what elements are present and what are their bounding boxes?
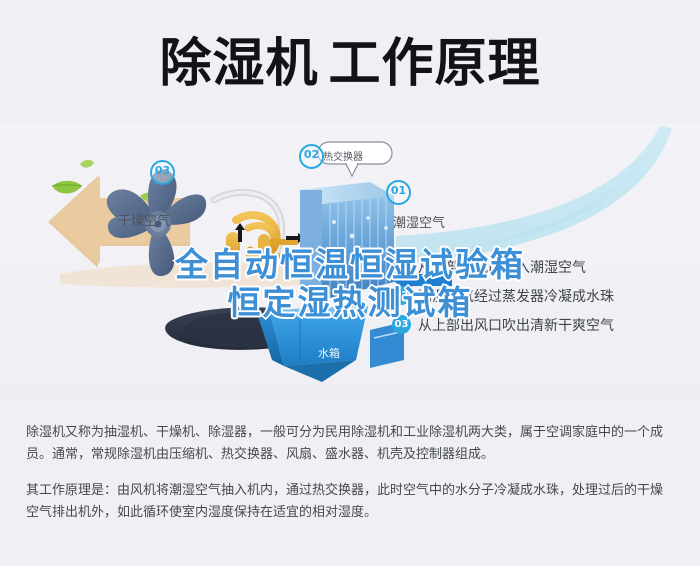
page-title-part-2: 工作原理 (329, 34, 541, 94)
title-band: 除湿机工作原理 (0, 0, 700, 132)
diagram-badge-03: 03 (150, 160, 175, 185)
legend-item: 02 潮湿空气经过蒸发器冷凝成水珠 (392, 281, 692, 310)
compressor-coils (214, 192, 305, 267)
legend-item: 01 从下部进风口吸入潮湿空气 (392, 252, 692, 281)
water-tank (258, 306, 368, 382)
body-paragraph-1: 除湿机又称为抽湿机、干燥机、除湿器，一般可分为民用除湿机和工业除湿机两大类，属于… (26, 422, 674, 466)
body-paragraph-2: 其工作原理是：由风机将潮湿空气抽入机内，通过热交换器，此时空气中的水分子冷凝成水… (26, 480, 674, 524)
diagram-legend: 01 从下部进风口吸入潮湿空气 02 潮湿空气经过蒸发器冷凝成水珠 03 从上部… (392, 252, 692, 339)
dehumidifier-diagram: 03 02 01 干燥空气 潮湿空气 热交换器 水箱 01 从下部进风口吸入潮湿… (0, 124, 700, 406)
diagram-badge-01: 01 (386, 180, 411, 205)
label-dry-air: 干燥空气 (118, 210, 170, 229)
legend-text-03: 从上部出风口吹出清新干爽空气 (418, 315, 614, 335)
heat-exchanger-block (300, 182, 394, 300)
legend-badge-02: 02 (392, 286, 411, 305)
humid-air-swoosh (396, 126, 672, 264)
diagram-badge-02: 02 (299, 144, 324, 169)
legend-item: 03 从上部出风口吹出清新干爽空气 (392, 310, 692, 339)
page-title: 除湿机工作原理 (0, 34, 700, 94)
legend-text-02: 潮湿空气经过蒸发器冷凝成水珠 (418, 286, 614, 306)
legend-badge-03: 03 (392, 315, 411, 334)
label-heat-exchanger: 热交换器 (323, 148, 363, 163)
legend-text-01: 从下部进风口吸入潮湿空气 (418, 257, 586, 277)
legend-badge-01: 01 (392, 257, 411, 276)
article-body: 除湿机又称为抽湿机、干燥机、除湿器，一般可分为民用除湿机和工业除湿机两大类，属于… (0, 408, 700, 566)
label-humid-air: 潮湿空气 (393, 212, 445, 231)
page-title-part-1: 除湿机 (159, 34, 318, 94)
label-water-tank: 水箱 (318, 345, 340, 361)
